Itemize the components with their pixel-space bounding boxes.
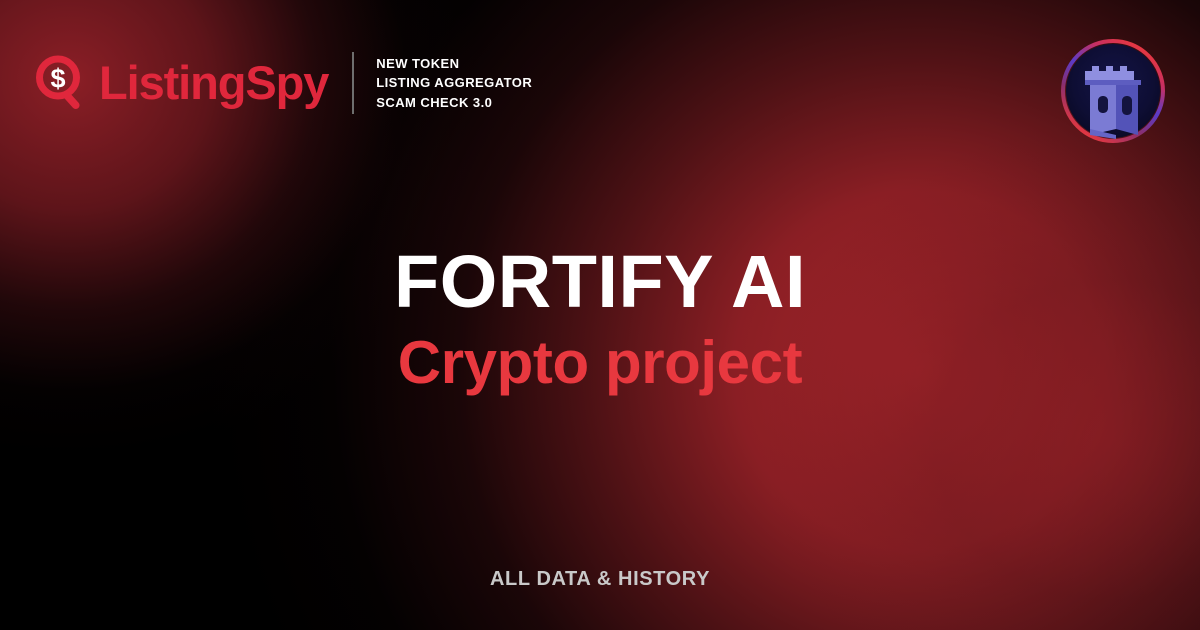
tagline-line-1: NEW TOKEN [376, 55, 532, 72]
token-logo-badge[interactable] [1059, 37, 1167, 145]
footer: ALL DATA & HISTORY [0, 568, 1200, 591]
brand-wordmark: ListingSpy [99, 59, 328, 106]
fortress-tower-icon [1085, 66, 1141, 139]
tagline-line-2: LISTING AGGREGATOR [376, 74, 532, 91]
footer-text: ALL DATA & HISTORY [490, 568, 710, 590]
project-heading-block: FORTIFY AI Crypto project [0, 243, 1200, 397]
site-header: $ ListingSpy NEW TOKEN LISTING AGGREGATO… [34, 52, 532, 114]
magnifier-dollar-icon: $ [34, 55, 90, 111]
svg-text:$: $ [50, 64, 65, 94]
header-divider [352, 52, 354, 114]
page-subtitle: Crypto project [0, 329, 1200, 396]
page-title: FORTIFY AI [0, 243, 1200, 321]
brand-logo[interactable]: $ ListingSpy [34, 55, 328, 111]
tagline-line-3: SCAM CHECK 3.0 [376, 94, 532, 111]
social-preview-card: $ ListingSpy NEW TOKEN LISTING AGGREGATO… [0, 0, 1200, 630]
brand-tagline: NEW TOKEN LISTING AGGREGATOR SCAM CHECK … [376, 55, 532, 110]
